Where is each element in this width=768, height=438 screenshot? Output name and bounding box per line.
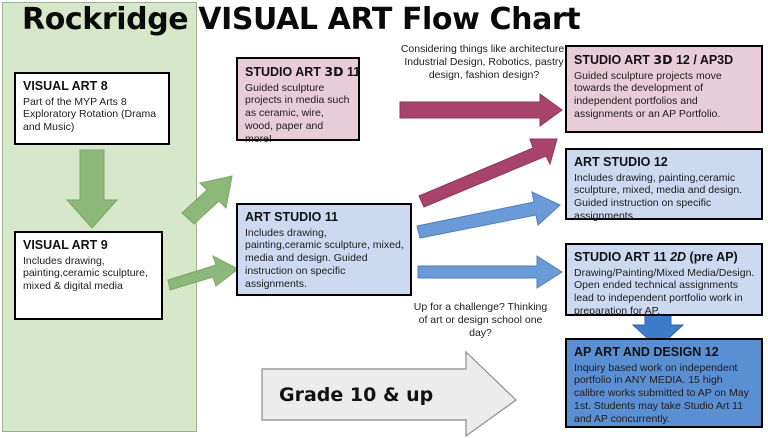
box-visual-art-9[interactable]: VISUAL ART 9 Includes drawing, painting,… (14, 231, 163, 320)
arrow-artstudio11-to-studio3d12 (419, 139, 557, 207)
box-visual-art-8-body: Part of the MYP Arts 8 Exploratory Rotat… (23, 96, 162, 134)
box-visual-art-9-body: Includes drawing, painting,ceramic sculp… (23, 255, 155, 293)
box-studio-art-11-2d[interactable]: STUDIO ART 11 2D (pre AP) Drawing/Painti… (565, 243, 763, 316)
box-visual-art-8-title: VISUAL ART 8 (23, 79, 162, 95)
arrow-studio3d11-to-studio3d12 (400, 94, 562, 126)
box-ap-art-and-design-12[interactable]: AP ART AND DESIGN 12 Inquiry based work … (565, 338, 763, 428)
box-studio-art-11-2d-title: STUDIO ART 11 2D (pre AP) (574, 250, 755, 266)
box-art-studio-12-title: ART STUDIO 12 (574, 155, 755, 171)
grade-8-9-panel (2, 2, 197, 432)
box-art-studio-11-title: ART STUDIO 11 (245, 210, 404, 226)
box-ap-art-and-design-12-title: AP ART AND DESIGN 12 (574, 345, 755, 361)
note-challenge: Up for a challenge? Thinking of art or d… (408, 301, 553, 340)
box-ap-art-and-design-12-body: Inquiry based work on independent portfo… (574, 362, 755, 426)
box-studio-art-3d-12[interactable]: STUDIO ART 3D 12 / AP3D Guided sculpture… (565, 45, 763, 133)
arrow-artstudio11-to-artstudio12 (417, 192, 560, 238)
box-studio-art-3d-11-body: Guided sculpture projects in media such … (245, 82, 352, 146)
box-studio-art-11-2d-body: Drawing/Painting/Mixed Media/Design. Ope… (574, 267, 755, 318)
box-studio-art-3d-11[interactable]: STUDIO ART 3D 11 Guided sculpture projec… (236, 57, 360, 141)
box-visual-art-8[interactable]: VISUAL ART 8 Part of the MYP Arts 8 Expl… (14, 72, 170, 145)
box-art-studio-11-body: Includes drawing, painting,ceramic sculp… (245, 227, 404, 291)
box-studio-art-3d-12-title: STUDIO ART 3D 12 / AP3D (574, 52, 755, 69)
flow-chart-canvas: Rockridge VISUAL ART Flow Chart (0, 0, 768, 438)
box-art-studio-11[interactable]: ART STUDIO 11 Includes drawing, painting… (236, 203, 412, 296)
box-art-studio-12[interactable]: ART STUDIO 12 Includes drawing, painting… (565, 148, 763, 220)
box-studio-art-3d-11-title: STUDIO ART 3D 11 (245, 64, 352, 81)
arrow-artstudio11-to-studioart11-2d (418, 256, 562, 288)
box-studio-art-3d-12-body: Guided sculpture projects move towards t… (574, 70, 755, 121)
page-title: Rockridge VISUAL ART Flow Chart (22, 2, 580, 37)
box-art-studio-12-body: Includes drawing, painting,ceramic sculp… (574, 172, 755, 223)
grade-10-banner-label: Grade 10 & up (279, 384, 433, 406)
box-visual-art-9-title: VISUAL ART 9 (23, 238, 155, 254)
note-3d-pathway: Considering things like architecture, In… (396, 43, 572, 82)
